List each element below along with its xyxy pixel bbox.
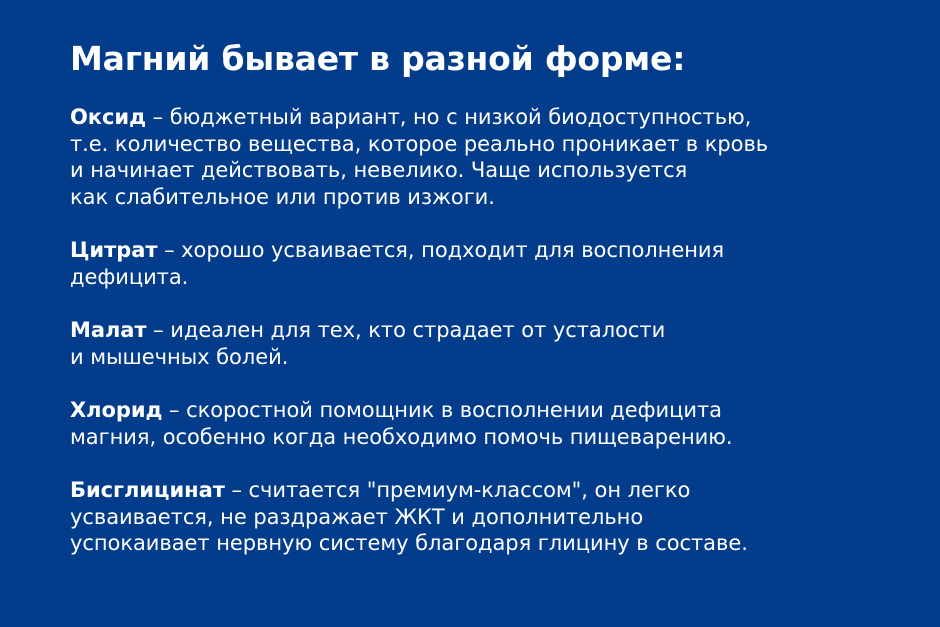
list-item-text: Хлорид – скоростной помощник в восполнен…	[70, 397, 852, 450]
term-label: Бисглицинат	[70, 478, 225, 502]
page-title: Магний бывает в разной форме:	[70, 40, 852, 78]
term-label: Цитрат	[70, 238, 157, 262]
list-item-text: Малат – идеален для тех, кто страдает от…	[70, 317, 852, 370]
list-item: Хлорид – скоростной помощник в восполнен…	[70, 397, 852, 450]
list-item-text: Оксид – бюджетный вариант, но с низкой б…	[70, 104, 852, 210]
term-separator: –	[146, 105, 170, 129]
term-description: бюджетный вариант, но с низкой биодоступ…	[70, 105, 768, 209]
list-item: Оксид – бюджетный вариант, но с низкой б…	[70, 104, 852, 210]
list-item-text: Цитрат – хорошо усваивается, подходит дл…	[70, 237, 852, 290]
magnesium-forms-list: Оксид – бюджетный вариант, но с низкой б…	[70, 104, 852, 557]
term-separator: –	[162, 398, 186, 422]
slide-container: Магний бывает в разной форме: Оксид – бю…	[0, 0, 940, 627]
term-label: Оксид	[70, 105, 146, 129]
term-label: Хлорид	[70, 398, 162, 422]
list-item: Бисглицинат – считается "премиум-классом…	[70, 477, 852, 557]
list-item: Цитрат – хорошо усваивается, подходит дл…	[70, 237, 852, 290]
list-item: Малат – идеален для тех, кто страдает от…	[70, 317, 852, 370]
term-label: Малат	[70, 318, 147, 342]
term-separator: –	[225, 478, 249, 502]
term-separator: –	[147, 318, 171, 342]
list-item-text: Бисглицинат – считается "премиум-классом…	[70, 477, 852, 557]
term-separator: –	[157, 238, 181, 262]
